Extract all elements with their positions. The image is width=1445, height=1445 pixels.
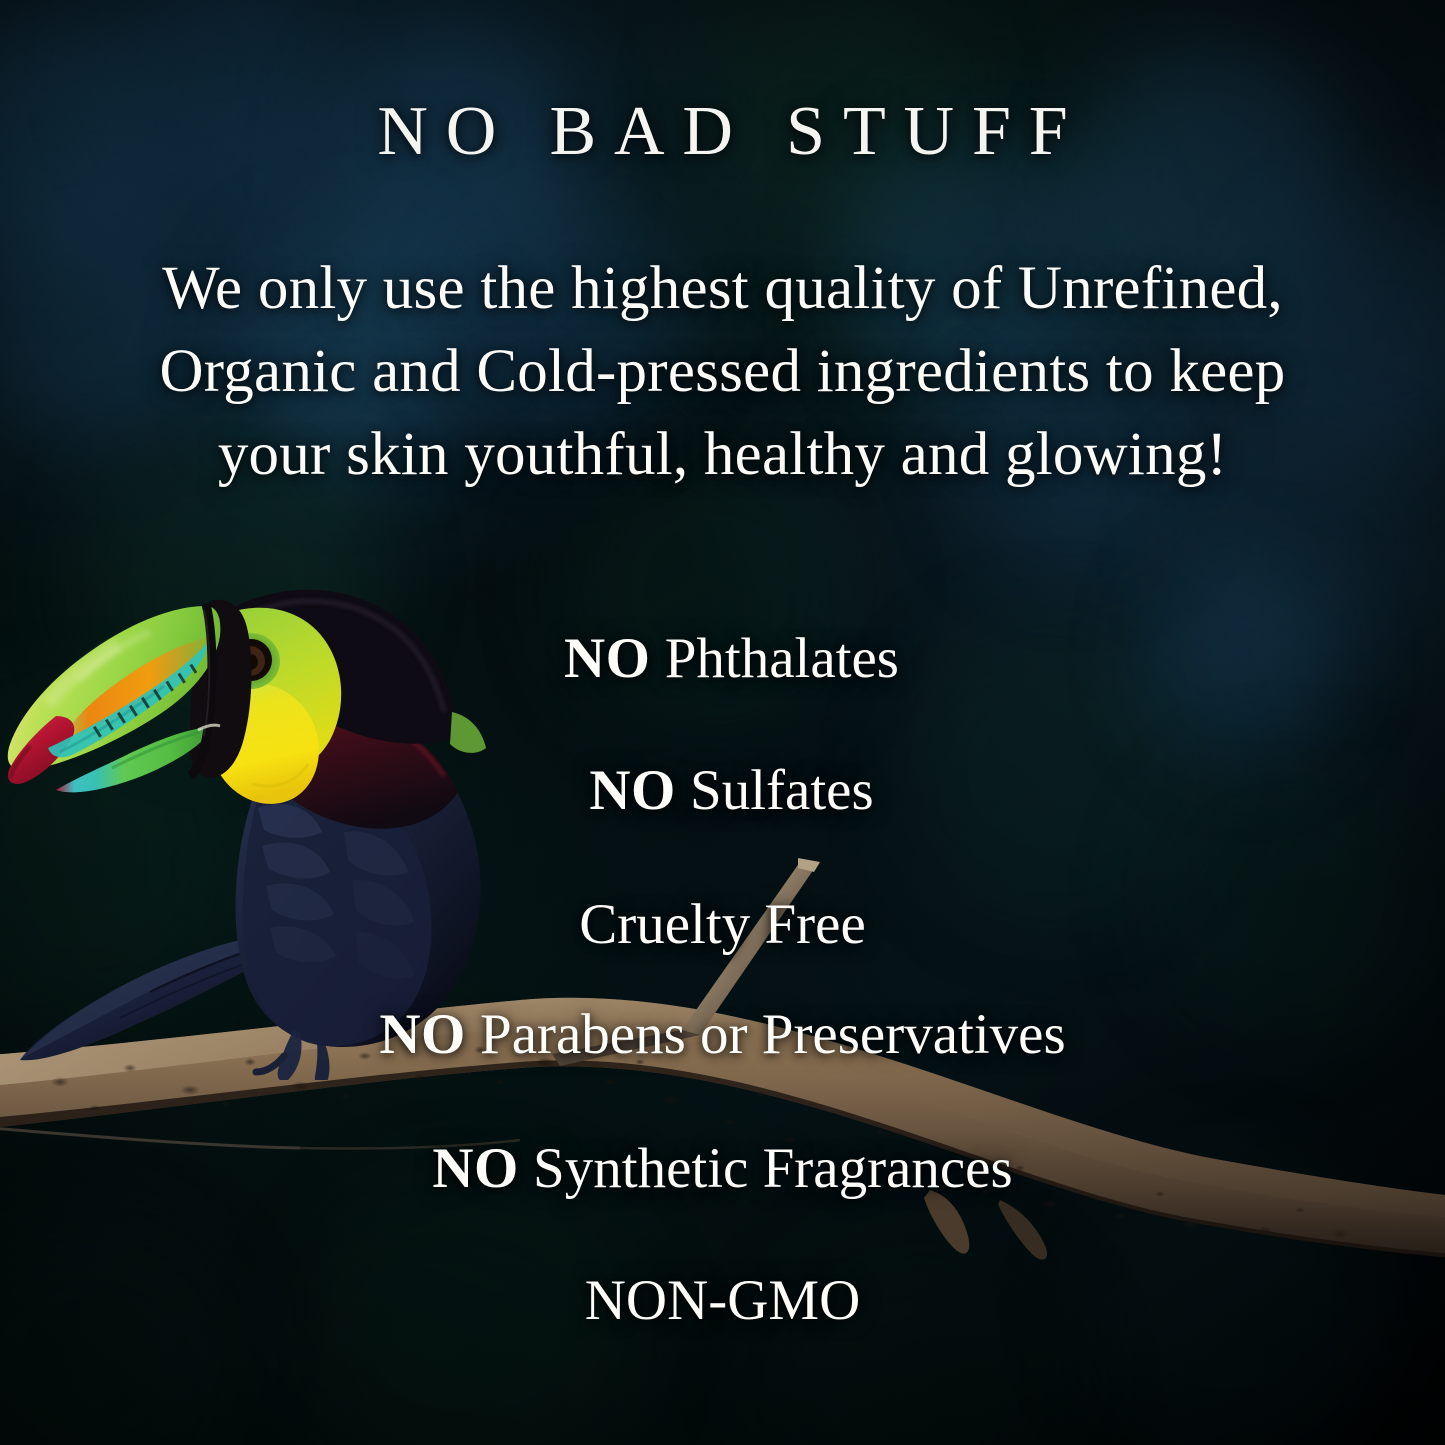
claim-item-cruelty-free: Cruelty Free — [0, 896, 1445, 953]
claim-item-sulfates: NO Sulfates — [0, 762, 1445, 819]
intro-paragraph: We only use the highest quality of Unref… — [83, 248, 1363, 497]
claim-text: Cruelty Free — [579, 893, 866, 956]
intro-line: your skin youthful, healthy and glowing! — [83, 414, 1363, 497]
claim-text: NON-GMO — [585, 1269, 860, 1332]
claim-item-non-gmo: NON-GMO — [0, 1272, 1445, 1329]
claim-item-phthalates: NO Phthalates — [0, 630, 1445, 687]
intro-line: Organic and Cold-pressed ingredients to … — [83, 331, 1363, 414]
claim-item-parabens: NO Parabens or Preservatives — [0, 1006, 1445, 1063]
claim-prefix: NO — [379, 1003, 465, 1066]
claim-text: Synthetic Fragrances — [533, 1137, 1013, 1200]
claim-text: Parabens or Preservatives — [480, 1003, 1066, 1066]
promo-graphic-canvas: NO BAD STUFF We only use the highest qua… — [0, 0, 1445, 1445]
toucan-nape-green-patch — [450, 712, 486, 753]
claim-text: Sulfates — [690, 759, 874, 822]
claim-text: Phthalates — [665, 627, 899, 690]
claim-prefix: NO — [432, 1137, 518, 1200]
claim-prefix: NO — [589, 759, 675, 822]
branch-knob — [998, 1200, 1047, 1260]
intro-line: We only use the highest quality of Unref… — [83, 248, 1363, 331]
page-title: NO BAD STUFF — [0, 97, 1445, 167]
claim-prefix: NO — [564, 627, 650, 690]
claim-item-fragrances: NO Synthetic Fragrances — [0, 1140, 1445, 1197]
